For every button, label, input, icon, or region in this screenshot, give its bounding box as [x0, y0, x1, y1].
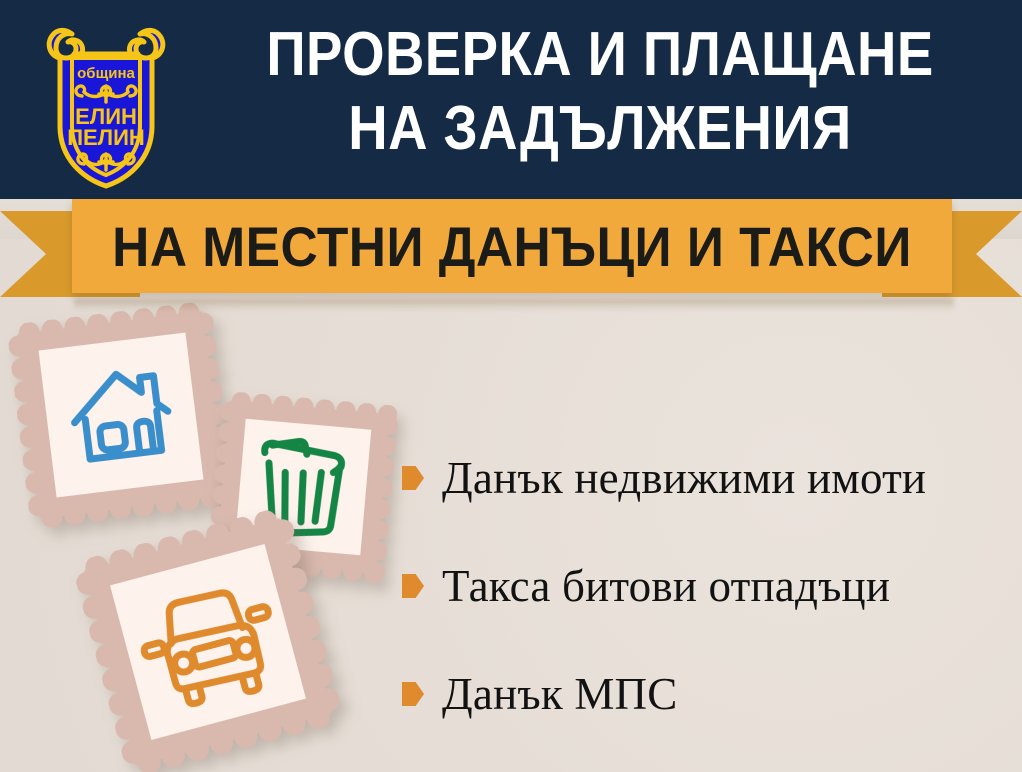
list-item: Такса битови отпадъци [402, 532, 1012, 640]
ribbon-shadow [74, 299, 954, 311]
list-item: Данък МПС [402, 640, 1012, 748]
list-item-label: Данък МПС [442, 669, 677, 719]
ribbon-label: НА МЕСТНИ ДАНЪЦИ И ТАКСИ [107, 199, 917, 293]
ribbon-banner: НА МЕСТНИ ДАНЪЦИ И ТАКСИ [0, 199, 1022, 309]
stamp-scallop-border [6, 300, 236, 530]
list-item-label: Данък недвижими имоти [442, 453, 926, 503]
page-title: ПРОВЕРКА И ПЛАЩАНЕ НА ЗАДЪЛЖЕНИЯ [239, 18, 961, 166]
coat-of-arms-icon: община ЕЛИН ПЕЛИН [26, 8, 186, 192]
arrow-bullet-icon [402, 682, 424, 706]
list-item-label: Такса битови отпадъци [442, 561, 890, 611]
ribbon-band: НА МЕСТНИ ДАНЪЦИ И ТАКСИ [72, 199, 952, 293]
tax-types-list: Данък недвижими имоти Такса битови отпад… [402, 424, 1012, 748]
crest-label-line2: ПЕЛИН [67, 125, 145, 150]
arrow-bullet-icon [402, 466, 424, 490]
arrow-bullet-icon [402, 574, 424, 598]
stamp-card-real-estate [6, 300, 236, 530]
poster-root: ПРОВЕРКА И ПЛАЩАНЕ НА ЗАДЪЛЖЕНИЯ община … [0, 0, 1022, 772]
list-item: Данък недвижими имоти [402, 424, 1012, 532]
crest-label-top: община [77, 65, 135, 82]
